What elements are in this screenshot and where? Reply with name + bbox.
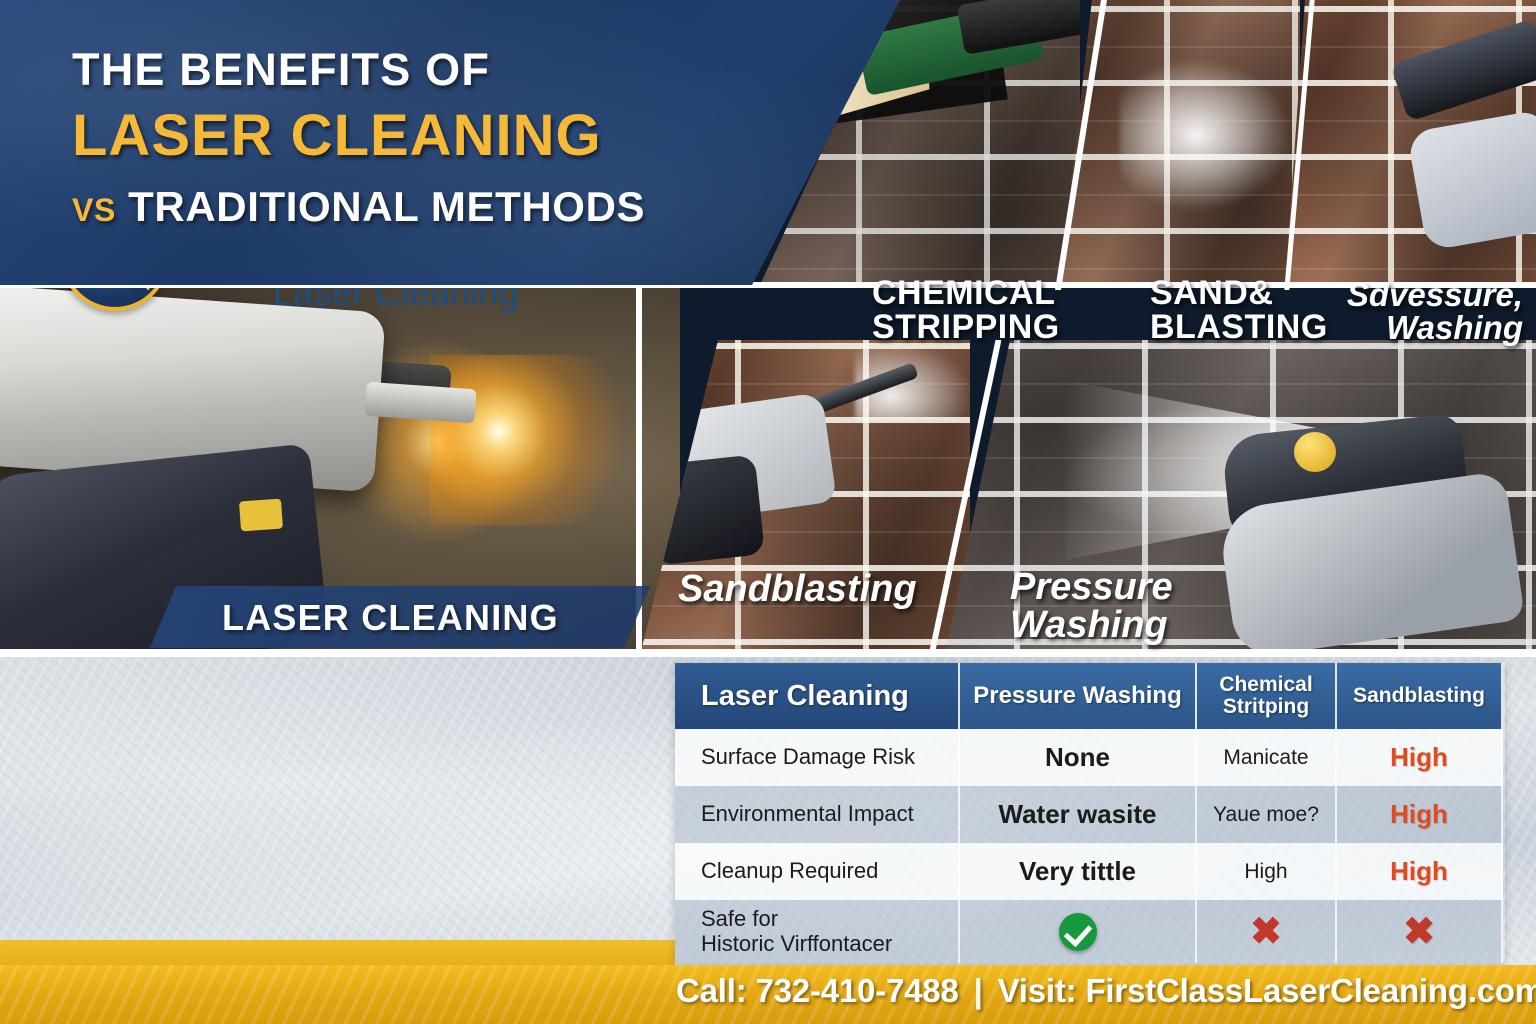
comparison-table: Laser Cleaning Pressure Washing Chemical… bbox=[675, 663, 1505, 963]
table-row: Environmental Impact Water wasite Yaue m… bbox=[675, 786, 1505, 843]
cell-sandblasting: ✖ bbox=[1337, 900, 1503, 963]
yellow-knob-shape bbox=[1294, 432, 1336, 472]
column-header-pressure-washing: Pressure Washing bbox=[960, 663, 1197, 729]
row-criterion-line2: Historic Virffontacer bbox=[701, 932, 892, 957]
check-icon bbox=[1059, 913, 1097, 951]
trigger-shape bbox=[239, 499, 283, 532]
label-pressure-line2: Washing bbox=[1010, 606, 1173, 644]
column-header-sandblasting: Sandblasting bbox=[1337, 663, 1503, 729]
infographic-root: CHEMICAL STRIPPING SAND& BLASTING Sdvess… bbox=[0, 0, 1536, 1024]
label-pressure-washing: Pressure Washing bbox=[1010, 568, 1173, 644]
cross-icon: ✖ bbox=[1403, 913, 1435, 951]
header-line-1: THE BENEFITS OF bbox=[72, 44, 900, 96]
table-header-row: Laser Cleaning Pressure Washing Chemical… bbox=[675, 663, 1505, 729]
footer-separator: | bbox=[968, 972, 989, 1009]
label-sand-line2: BLASTING bbox=[1150, 310, 1328, 344]
footer-phone[interactable]: 732-410-7488 bbox=[755, 972, 958, 1009]
gold-accent-band bbox=[0, 940, 675, 966]
label-sand-line1: SAND& bbox=[1150, 276, 1328, 310]
header-vs-label: VS bbox=[72, 192, 116, 228]
table-row: Safe for Historic Virffontacer ✖ ✖ bbox=[675, 900, 1505, 963]
label-chemical-stripping: CHEMICAL STRIPPING bbox=[872, 276, 1060, 344]
header-traditional-methods: TRADITIONAL METHODS bbox=[128, 183, 645, 230]
footer-call-label: Call: bbox=[676, 972, 747, 1009]
column-header-chemical-stripping: Chemical Stritping bbox=[1197, 663, 1337, 729]
footer-website[interactable]: FirstClassLaserCleaning.com bbox=[1085, 972, 1536, 1009]
label-sand-blasting: SAND& BLASTING bbox=[1150, 276, 1328, 344]
label-laser-cleaning-banner: LASER CLEANING bbox=[150, 586, 650, 648]
glove-shape bbox=[1407, 109, 1536, 251]
row-criterion: Surface Damage Risk bbox=[675, 729, 960, 786]
column-header-chemical-line2: Stritping bbox=[1219, 696, 1312, 718]
header-line-2: LASER CLEANING bbox=[72, 102, 900, 169]
cell-sandblasting: High bbox=[1337, 729, 1503, 786]
table-body: Surface Damage Risk None Manicate High E… bbox=[675, 729, 1505, 963]
table-row: Surface Damage Risk None Manicate High bbox=[675, 729, 1505, 786]
footer-left-gold bbox=[0, 965, 660, 1024]
table-row: Cleanup Required Very tittle High High bbox=[675, 843, 1505, 900]
photo-seam bbox=[0, 649, 1536, 657]
cell-pressure-washing: None bbox=[960, 729, 1197, 786]
label-chemical-line1: CHEMICAL bbox=[872, 276, 1060, 310]
cell-sandblasting: High bbox=[1337, 843, 1503, 900]
label-pressure-top-line2: Washing bbox=[1318, 311, 1523, 344]
cross-icon: ✖ bbox=[1250, 913, 1282, 951]
header-line-3: VS TRADITIONAL METHODS bbox=[72, 183, 900, 231]
cell-chemical-stripping: High bbox=[1197, 843, 1337, 900]
label-laser-cleaning: LASER CLEANING bbox=[222, 597, 559, 639]
label-sandblasting: Sandblasting bbox=[678, 570, 917, 608]
table-header: Laser Cleaning Pressure Washing Chemical… bbox=[675, 663, 1505, 729]
photo-pressure-washing-top bbox=[1285, 0, 1536, 285]
label-pressure-line1: Pressure bbox=[1010, 568, 1173, 606]
column-header-chemical-line1: Chemical bbox=[1219, 674, 1312, 696]
label-chemical-line2: STRIPPING bbox=[872, 310, 1060, 344]
cell-pressure-washing: Water wasite bbox=[960, 786, 1197, 843]
row-criterion: Cleanup Required bbox=[675, 843, 960, 900]
row-criterion-line1: Safe for bbox=[701, 907, 892, 932]
dust-plume-shape bbox=[1120, 60, 1290, 210]
cell-pressure-washing bbox=[960, 900, 1197, 963]
cell-sandblasting: High bbox=[1337, 786, 1503, 843]
footer-visit-label: Visit: bbox=[998, 972, 1077, 1009]
cell-chemical-stripping: Yaue moe? bbox=[1197, 786, 1337, 843]
footer-bar: Call: 732-410-7488 | Visit: FirstClassLa… bbox=[0, 965, 1536, 1024]
row-criterion: Environmental Impact bbox=[675, 786, 960, 843]
header-banner: THE BENEFITS OF LASER CLEANING VS TRADIT… bbox=[0, 0, 900, 285]
label-pressure-washing-top: Sdvessure, Washing bbox=[1318, 278, 1523, 344]
header-text-block: THE BENEFITS OF LASER CLEANING VS TRADIT… bbox=[0, 0, 900, 231]
spark-glow-shape bbox=[430, 355, 660, 525]
footer-contact: Call: 732-410-7488 | Visit: FirstClassLa… bbox=[676, 972, 1536, 1010]
cell-chemical-stripping: Manicate bbox=[1197, 729, 1337, 786]
row-criterion: Safe for Historic Virffontacer bbox=[675, 900, 960, 963]
cell-pressure-washing: Very tittle bbox=[960, 843, 1197, 900]
cell-chemical-stripping: ✖ bbox=[1197, 900, 1337, 963]
label-pressure-top-line1: Sdvessure, bbox=[1318, 278, 1523, 311]
column-header-laser-cleaning: Laser Cleaning bbox=[675, 663, 960, 729]
